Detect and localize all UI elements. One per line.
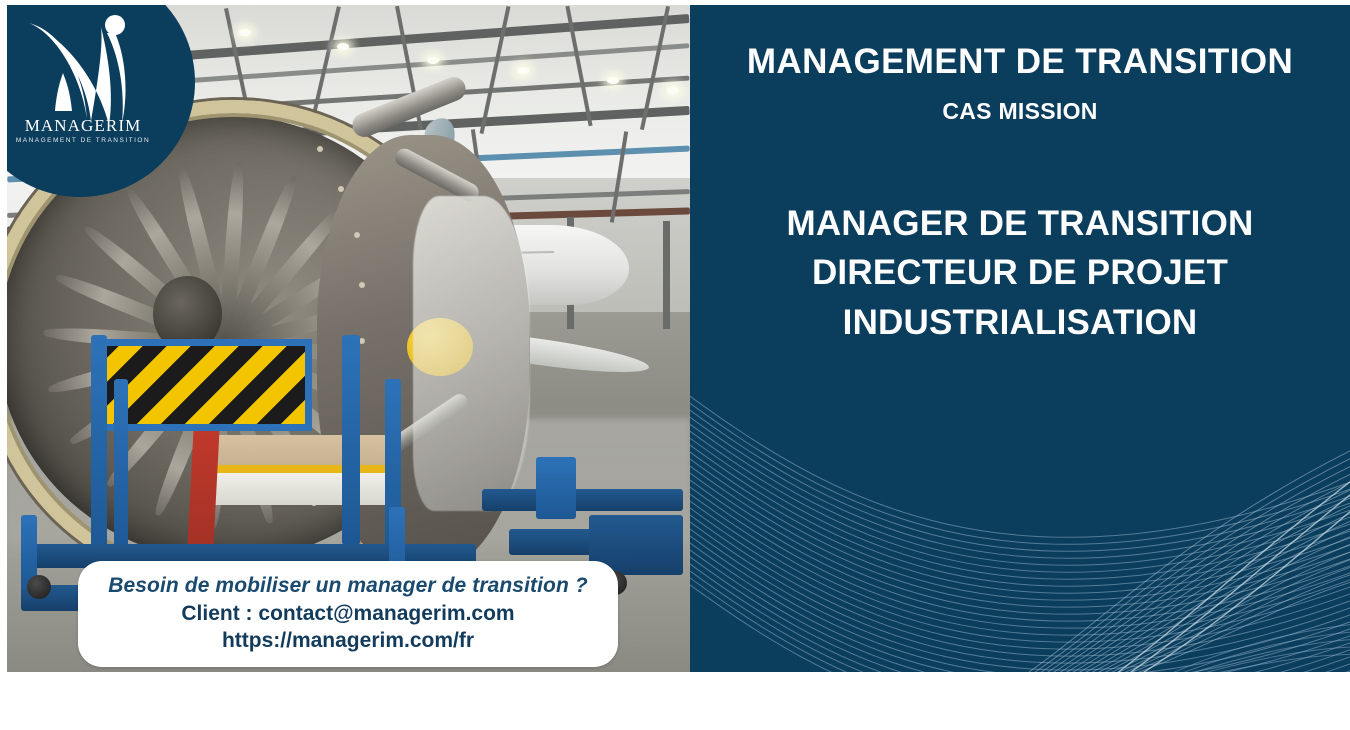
managerim-monogram-icon xyxy=(25,15,135,127)
contact-card[interactable]: Besoin de mobiliser un manager de transi… xyxy=(78,561,618,667)
contact-email[interactable]: Client : contact@managerim.com xyxy=(181,601,514,627)
wave-decoration xyxy=(690,379,1350,672)
title-panel: MANAGEMENT DE TRANSITION CAS MISSION MAN… xyxy=(690,5,1350,672)
slide-root: MANAGERIM MANAGEMENT DE TRANSITION Besoi… xyxy=(0,0,1350,730)
role-block: MANAGER DE TRANSITION DIRECTEUR DE PROJE… xyxy=(690,199,1350,348)
logo-name: MANAGERIM xyxy=(13,117,153,134)
role-line-2: DIRECTEUR DE PROJET xyxy=(690,248,1350,298)
logo-wordmark: MANAGERIM MANAGEMENT DE TRANSITION xyxy=(13,117,153,144)
contact-question: Besoin de mobiliser un manager de transi… xyxy=(108,574,588,598)
hazard-checker-panel xyxy=(97,339,312,431)
role-line-3: INDUSTRIALISATION xyxy=(690,298,1350,348)
role-line-1: MANAGER DE TRANSITION xyxy=(690,199,1350,249)
contact-website[interactable]: https://managerim.com/fr xyxy=(222,628,474,654)
content-card: MANAGERIM MANAGEMENT DE TRANSITION Besoi… xyxy=(7,5,1350,672)
logo-tagline: MANAGEMENT DE TRANSITION xyxy=(13,137,153,144)
white-padding xyxy=(215,473,390,505)
panel-subtitle: CAS MISSION xyxy=(690,98,1350,125)
panel-text-block: MANAGEMENT DE TRANSITION CAS MISSION MAN… xyxy=(690,5,1350,348)
panel-title: MANAGEMENT DE TRANSITION xyxy=(690,43,1350,82)
hangar-photo: MANAGERIM MANAGEMENT DE TRANSITION Besoi… xyxy=(7,5,690,672)
